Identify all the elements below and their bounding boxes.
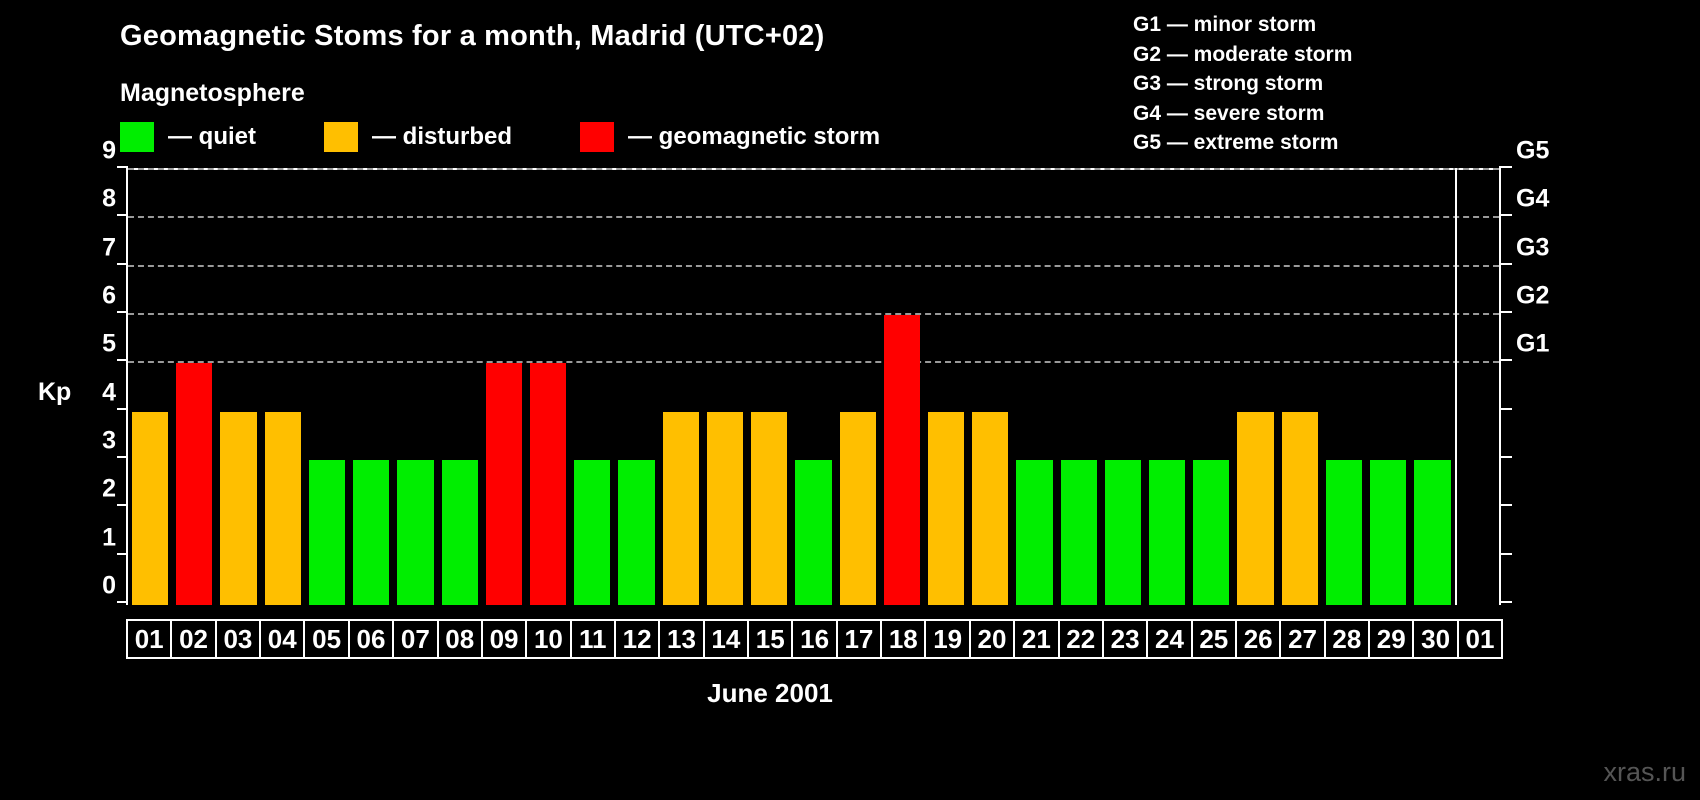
- x-axis-day-labels: 0102030405060708091011121314151617181920…: [126, 619, 1501, 659]
- bar-slot[interactable]: [747, 170, 791, 605]
- day-label-16[interactable]: 16: [791, 619, 837, 659]
- bar-day-04[interactable]: [265, 412, 301, 605]
- bar-day-05[interactable]: [309, 460, 345, 605]
- bar-slot[interactable]: [924, 170, 968, 605]
- bar-slot[interactable]: [526, 170, 570, 605]
- plot-area: [126, 168, 1501, 605]
- bar-slot[interactable]: [614, 170, 658, 605]
- day-label-06[interactable]: 06: [348, 619, 394, 659]
- day-label-18[interactable]: 18: [880, 619, 926, 659]
- bar-day-21[interactable]: [1016, 460, 1052, 605]
- g-axis-ticks: [1499, 168, 1513, 603]
- bar-slot[interactable]: [1189, 170, 1233, 605]
- day-label-27[interactable]: 27: [1279, 619, 1325, 659]
- bar-day-23[interactable]: [1105, 460, 1141, 605]
- g-tick-label-g4: G4: [1516, 185, 1549, 214]
- day-label-20[interactable]: 20: [969, 619, 1015, 659]
- day-label-17[interactable]: 17: [836, 619, 882, 659]
- bar-slot[interactable]: [482, 170, 526, 605]
- legend-swatch-quiet-icon: [120, 122, 154, 152]
- day-label-03[interactable]: 03: [215, 619, 261, 659]
- bar-day-18[interactable]: [884, 315, 920, 605]
- bar-slot[interactable]: [1057, 170, 1101, 605]
- legend-entry-geomagnetic-storm: — geomagnetic storm: [580, 122, 880, 152]
- bar-day-02[interactable]: [176, 363, 212, 605]
- y-tick-label-8: 8: [102, 185, 116, 214]
- day-label-24[interactable]: 24: [1146, 619, 1192, 659]
- bar-day-11[interactable]: [574, 460, 610, 605]
- day-label-23[interactable]: 23: [1102, 619, 1148, 659]
- y-tick-label-1: 1: [102, 523, 116, 552]
- day-label-12[interactable]: 12: [614, 619, 660, 659]
- legend-entry-quiet: — quiet: [120, 122, 256, 152]
- day-label-28[interactable]: 28: [1324, 619, 1370, 659]
- day-label-19[interactable]: 19: [924, 619, 970, 659]
- y-tick-label-9: 9: [102, 137, 116, 166]
- bar-day-19[interactable]: [928, 412, 964, 605]
- month-boundary-separator: [1455, 168, 1457, 605]
- x-axis-title: June 2001: [0, 678, 1700, 709]
- day-label-05[interactable]: 05: [303, 619, 349, 659]
- bar-slot[interactable]: [216, 170, 260, 605]
- y-tick-label-6: 6: [102, 282, 116, 311]
- day-label-21[interactable]: 21: [1013, 619, 1059, 659]
- g-tick-label-g3: G3: [1516, 233, 1549, 262]
- day-label-08[interactable]: 08: [437, 619, 483, 659]
- bar-day-07[interactable]: [397, 460, 433, 605]
- g-tick-label-g2: G2: [1516, 282, 1549, 311]
- bar-slot[interactable]: [393, 170, 437, 605]
- bar-day-27[interactable]: [1282, 412, 1318, 605]
- y-tick-label-7: 7: [102, 233, 116, 262]
- day-label-10[interactable]: 10: [525, 619, 571, 659]
- y-tick-label-4: 4: [102, 378, 116, 407]
- bar-day-03[interactable]: [220, 412, 256, 605]
- day-label-07[interactable]: 07: [392, 619, 438, 659]
- bar-day-16[interactable]: [795, 460, 831, 605]
- day-label-01[interactable]: 01: [126, 619, 172, 659]
- bar-day-10[interactable]: [530, 363, 566, 605]
- bar-day-17[interactable]: [840, 412, 876, 605]
- y-tick-label-5: 5: [102, 330, 116, 359]
- g-tick-label-g1: G1: [1516, 330, 1549, 359]
- bar-slot[interactable]: [349, 170, 393, 605]
- bar-day-24[interactable]: [1149, 460, 1185, 605]
- bar-slot[interactable]: [703, 170, 747, 605]
- gscale-row-g4: G4 — severe storm: [1133, 99, 1352, 129]
- bar-day-30[interactable]: [1414, 460, 1450, 605]
- gscale-row-g2: G2 — moderate storm: [1133, 40, 1352, 70]
- bar-slot[interactable]: [1278, 170, 1322, 605]
- bar-slot[interactable]: [128, 170, 172, 605]
- day-label-04[interactable]: 04: [259, 619, 305, 659]
- day-label-01[interactable]: 01: [1457, 619, 1503, 659]
- bar-slot[interactable]: [659, 170, 703, 605]
- bar-slot[interactable]: [1101, 170, 1145, 605]
- watermark: xras.ru: [1603, 757, 1686, 788]
- x-axis-title-text: June 2001: [707, 678, 833, 708]
- g-axis-labels: G1G2G3G4G5: [1516, 168, 1576, 603]
- bar-slot[interactable]: [1366, 170, 1410, 605]
- legend-swatch-geomagnetic-storm-icon: [580, 122, 614, 152]
- y-tick-label-2: 2: [102, 475, 116, 504]
- y-tick-label-0: 0: [102, 572, 116, 601]
- bar-slot[interactable]: [305, 170, 349, 605]
- bar-day-25[interactable]: [1193, 460, 1229, 605]
- day-label-15[interactable]: 15: [747, 619, 793, 659]
- bar-slot[interactable]: [172, 170, 216, 605]
- g-tick-label-g5: G5: [1516, 137, 1549, 166]
- legend-label-quiet: — quiet: [168, 123, 256, 151]
- bar-slot[interactable]: [968, 170, 1012, 605]
- day-label-25[interactable]: 25: [1191, 619, 1237, 659]
- legend-label-geomagnetic-storm: — geomagnetic storm: [628, 123, 880, 151]
- day-label-02[interactable]: 02: [170, 619, 216, 659]
- bar-slot[interactable]: [1410, 170, 1454, 605]
- bar-slot[interactable]: [570, 170, 614, 605]
- bar-slot[interactable]: [1233, 170, 1277, 605]
- bar-slot[interactable]: [836, 170, 880, 605]
- day-label-09[interactable]: 09: [481, 619, 527, 659]
- bar-slot[interactable]: [1322, 170, 1366, 605]
- bar-slot[interactable]: [261, 170, 305, 605]
- bar-day-12[interactable]: [618, 460, 654, 605]
- bar-slot[interactable]: [880, 170, 924, 605]
- bar-day-26[interactable]: [1237, 412, 1273, 605]
- y-axis-labels: 0123456789: [70, 168, 116, 603]
- bar-day-28[interactable]: [1326, 460, 1362, 605]
- bar-slot[interactable]: [438, 170, 482, 605]
- gscale-legend: G1 — minor storm G2 — moderate storm G3 …: [1133, 10, 1352, 158]
- bar-day-01[interactable]: [132, 412, 168, 605]
- legend-label-disturbed: — disturbed: [372, 123, 512, 151]
- day-label-30[interactable]: 30: [1412, 619, 1458, 659]
- legend-entry-disturbed: — disturbed: [324, 122, 512, 152]
- magnetosphere-legend: — quiet — disturbed — geomagnetic storm: [120, 122, 948, 152]
- bar-slot[interactable]: [1012, 170, 1056, 605]
- bar-day-06[interactable]: [353, 460, 389, 605]
- magnetosphere-heading: Magnetosphere: [120, 79, 305, 108]
- bar-day-20[interactable]: [972, 412, 1008, 605]
- bar-slot[interactable]: [1145, 170, 1189, 605]
- day-label-22[interactable]: 22: [1058, 619, 1104, 659]
- gscale-row-g5: G5 — extreme storm: [1133, 128, 1352, 158]
- bar-slot[interactable]: [791, 170, 835, 605]
- gscale-row-g3: G3 — strong storm: [1133, 69, 1352, 99]
- day-label-11[interactable]: 11: [570, 619, 616, 659]
- page-title: Geomagnetic Stoms for a month, Madrid (U…: [120, 20, 824, 53]
- gscale-row-g1: G1 — minor storm: [1133, 10, 1352, 40]
- bar-series: [128, 170, 1499, 605]
- day-label-13[interactable]: 13: [658, 619, 704, 659]
- y-tick-label-3: 3: [102, 427, 116, 456]
- bar-day-13[interactable]: [663, 412, 699, 605]
- bar-day-15[interactable]: [751, 412, 787, 605]
- bar-day-22[interactable]: [1061, 460, 1097, 605]
- bar-day-09[interactable]: [486, 363, 522, 605]
- day-label-26[interactable]: 26: [1235, 619, 1281, 659]
- bar-day-14[interactable]: [707, 412, 743, 605]
- day-label-14[interactable]: 14: [703, 619, 749, 659]
- bar-day-29[interactable]: [1370, 460, 1406, 605]
- day-label-29[interactable]: 29: [1368, 619, 1414, 659]
- bar-day-08[interactable]: [442, 460, 478, 605]
- legend-swatch-disturbed-icon: [324, 122, 358, 152]
- bar-slot[interactable]: [1455, 170, 1499, 605]
- y-axis-title: Kp: [38, 378, 71, 407]
- plot-inner: [128, 170, 1499, 605]
